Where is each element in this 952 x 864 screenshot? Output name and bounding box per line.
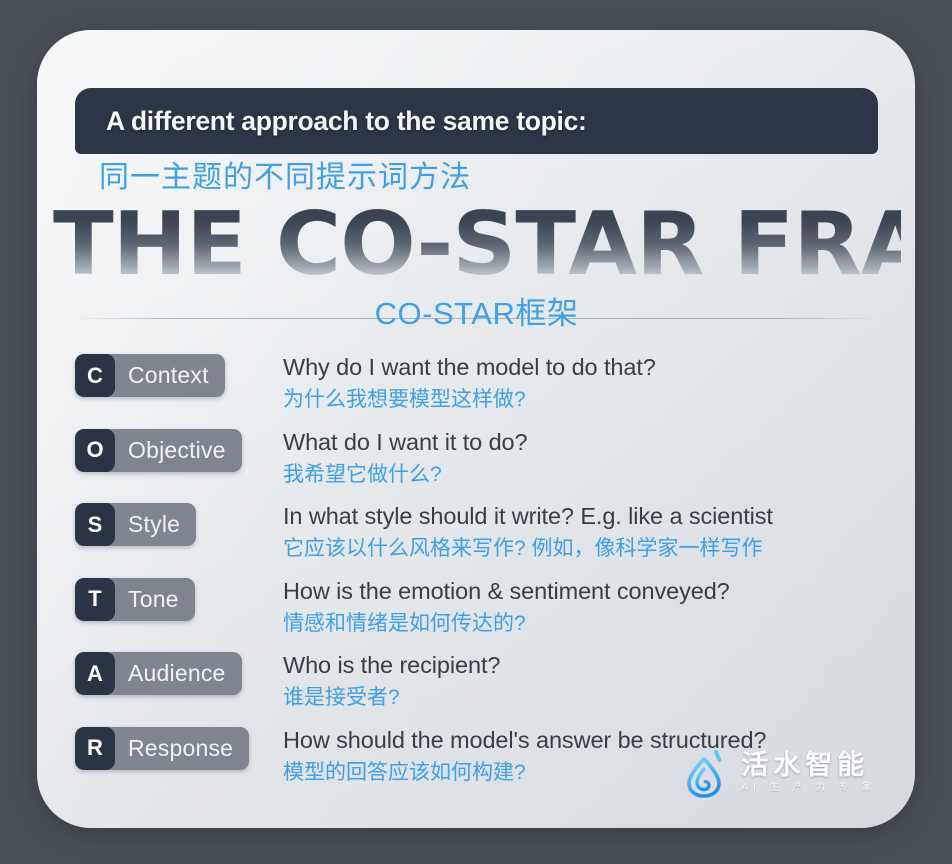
costar-row-translation: 为什么我想要模型这样做? <box>283 384 656 415</box>
badge-label: Response <box>115 727 249 770</box>
costar-row-texts: In what style should it write? E.g. like… <box>283 499 773 564</box>
badge-letter: A <box>75 652 115 695</box>
costar-row-texts: What do I want it to do?我希望它做什么? <box>283 425 528 490</box>
badge-label: Audience <box>115 652 242 695</box>
water-drop-icon <box>683 748 729 798</box>
badge-label: Objective <box>115 429 242 472</box>
badge-label: Context <box>115 354 225 397</box>
badge-label: Tone <box>115 578 195 621</box>
card-content: A different approach to the same topic: … <box>75 88 893 818</box>
costar-row-texts: How is the emotion & sentiment conveyed?… <box>283 574 730 639</box>
brand-tagline: AI 生 产 力 专 家 <box>741 780 877 796</box>
costar-row-question: How is the emotion & sentiment conveyed? <box>283 574 730 608</box>
costar-row-texts: Why do I want the model to do that?为什么我想… <box>283 350 656 415</box>
costar-row-translation: 谁是接受者? <box>283 682 500 713</box>
costar-row: OObjectiveWhat do I want it to do?我希望它做什… <box>75 425 890 500</box>
badge-letter: C <box>75 354 115 397</box>
poster-card: A different approach to the same topic: … <box>37 30 915 828</box>
costar-badge-response[interactable]: RResponse <box>75 727 249 770</box>
costar-badge-tone[interactable]: TTone <box>75 578 195 621</box>
costar-row-question: Who is the recipient? <box>283 648 500 682</box>
costar-row-question: Why do I want the model to do that? <box>283 350 656 384</box>
costar-row-question: What do I want it to do? <box>283 425 528 459</box>
costar-badge-objective[interactable]: OObjective <box>75 429 242 472</box>
costar-badge-style[interactable]: SStyle <box>75 503 196 546</box>
badge-letter: S <box>75 503 115 546</box>
main-title-wrap: THE CO-STAR FRAMEWORK <box>75 196 878 288</box>
costar-row-question: In what style should it write? E.g. like… <box>283 499 773 533</box>
costar-row: TToneHow is the emotion & sentiment conv… <box>75 574 890 649</box>
costar-badge-context[interactable]: CContext <box>75 354 225 397</box>
costar-row-translation: 情感和情绪是如何传达的? <box>283 608 730 639</box>
title-divider-row: CO-STAR框架 <box>75 292 878 338</box>
costar-row: AAudienceWho is the recipient?谁是接受者? <box>75 648 890 723</box>
main-title: THE CO-STAR FRAMEWORK <box>53 196 901 292</box>
main-title-translation: CO-STAR框架 <box>75 292 878 336</box>
costar-row-translation: 我希望它做什么? <box>283 459 528 490</box>
header-banner-title: A different approach to the same topic: <box>106 106 587 137</box>
badge-letter: T <box>75 578 115 621</box>
header-banner: A different approach to the same topic: <box>75 88 878 154</box>
costar-row-texts: Who is the recipient?谁是接受者? <box>283 648 500 713</box>
brand-watermark: 活水智能 AI 生 产 力 专 家 <box>683 748 877 798</box>
costar-row: CContextWhy do I want the model to do th… <box>75 350 890 425</box>
costar-rows: CContextWhy do I want the model to do th… <box>75 350 890 798</box>
costar-row: SStyleIn what style should it write? E.g… <box>75 499 890 574</box>
badge-letter: O <box>75 429 115 472</box>
badge-letter: R <box>75 727 115 770</box>
costar-row-translation: 它应该以什么风格来写作? 例如，像科学家一样写作 <box>283 533 773 564</box>
badge-label: Style <box>115 503 196 546</box>
brand-text: 活水智能 AI 生 产 力 专 家 <box>741 750 877 796</box>
costar-badge-audience[interactable]: AAudience <box>75 652 242 695</box>
brand-name: 活水智能 <box>741 750 877 780</box>
